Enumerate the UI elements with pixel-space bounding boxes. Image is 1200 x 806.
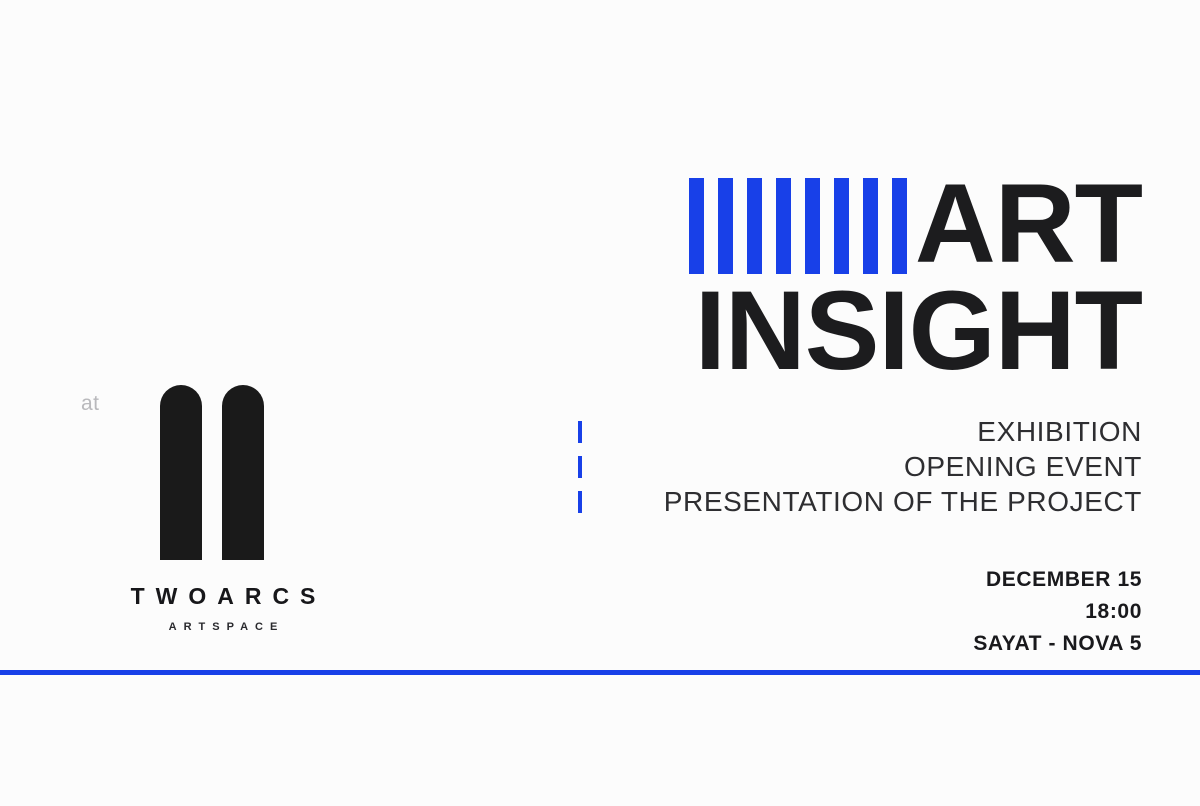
agenda-item-label: EXHIBITION <box>977 418 1142 446</box>
event-address: SAYAT - NOVA 5 <box>973 628 1142 660</box>
barcode-bar <box>892 178 907 274</box>
barcode-bar <box>805 178 820 274</box>
event-details: DECEMBER 15 18:00 SAYAT - NOVA 5 <box>973 564 1142 660</box>
barcode-bar <box>834 178 849 274</box>
agenda-item: OPENING EVENT <box>560 449 1142 484</box>
two-arcs-logo-icon <box>160 385 270 560</box>
barcode-bar <box>863 178 878 274</box>
arc-bar-right <box>222 385 264 560</box>
event-time: 18:00 <box>973 596 1142 628</box>
venue-name-wordmark: TWOARCS <box>78 585 368 608</box>
venue-lockup: at TWOARCS ARTSPACE <box>78 385 368 633</box>
barcode-bar <box>747 178 762 274</box>
agenda-tick-icon <box>578 421 582 443</box>
agenda-item: EXHIBITION <box>560 414 1142 449</box>
partner-logo-strip: GALIQUE* GROUP TWOARCS ARTSPACE ԴՊՐՈՑ <box>0 675 1200 806</box>
poster-canvas: at TWOARCS ARTSPACE ART INSIGHT <box>0 0 1200 806</box>
title-block: ART INSIGHT <box>522 176 1142 381</box>
venue-subtitle: ARTSPACE <box>78 622 368 633</box>
agenda-tick-icon <box>578 456 582 478</box>
title-word-insight: INSIGHT <box>522 282 1142 381</box>
arc-bar-left <box>160 385 202 560</box>
agenda-item-label: OPENING EVENT <box>904 453 1142 481</box>
event-date: DECEMBER 15 <box>973 564 1142 596</box>
barcode-bar <box>689 178 704 274</box>
title-line-1-row: ART <box>522 176 1142 276</box>
barcode-bar <box>718 178 733 274</box>
agenda-tick-icon <box>578 491 582 513</box>
agenda-list: EXHIBITION OPENING EVENT PRESENTATION OF… <box>560 414 1142 519</box>
barcode-bar <box>776 178 791 274</box>
venue-prefix-label: at <box>81 393 100 414</box>
title-word-art: ART <box>915 176 1142 271</box>
agenda-item: PRESENTATION OF THE PROJECT <box>560 484 1142 519</box>
barcode-stripes-icon <box>689 176 907 274</box>
agenda-item-label: PRESENTATION OF THE PROJECT <box>664 488 1142 516</box>
